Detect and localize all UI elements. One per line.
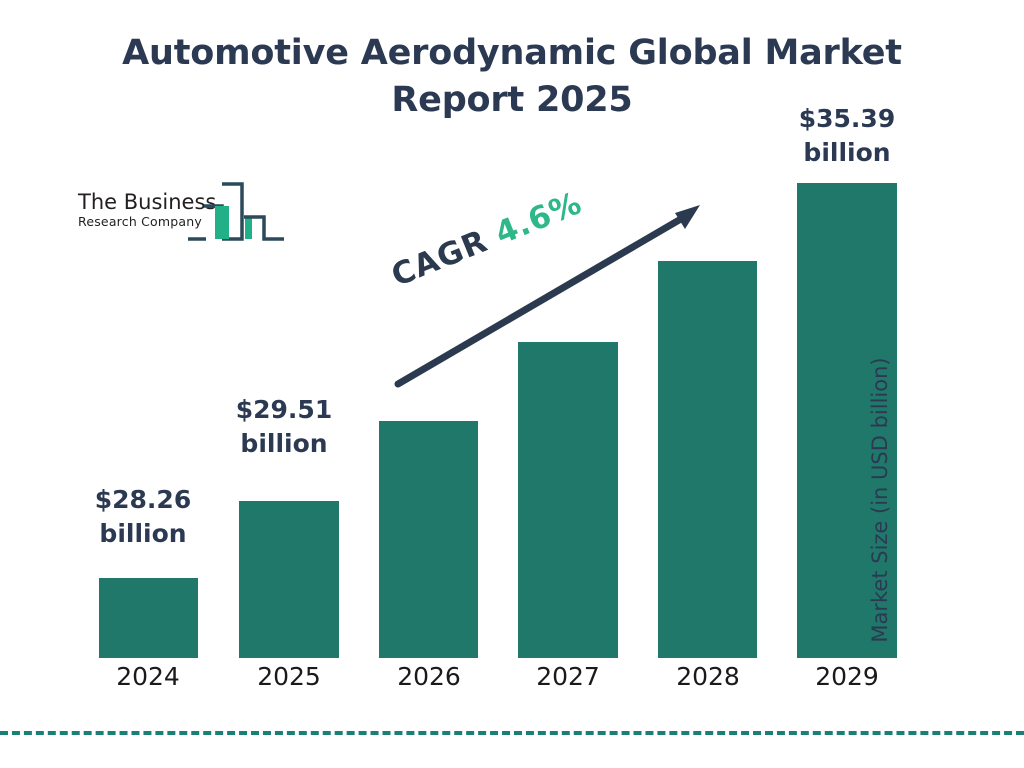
bar-2024 xyxy=(99,578,198,658)
value-label-2024: $28.26 billion xyxy=(78,483,208,551)
x-tick-2027: 2027 xyxy=(508,662,628,691)
x-tick-2028: 2028 xyxy=(648,662,768,691)
value-label-2025: $29.51 billion xyxy=(219,393,349,461)
cagr-label: CAGR xyxy=(387,223,493,294)
y-axis-title: Market Size (in USD billion) xyxy=(868,330,892,670)
value-label-2029-unit: billion xyxy=(782,136,912,170)
cagr-value: 4.6% xyxy=(490,185,587,252)
chart-page: Automotive Aerodynamic Global Market Rep… xyxy=(0,0,1024,768)
bar-2028 xyxy=(658,261,757,658)
value-label-2029: $35.39 billion xyxy=(782,102,912,170)
x-tick-2026: 2026 xyxy=(369,662,489,691)
bar-2027 xyxy=(518,342,618,658)
cagr-annotation: CAGR 4.6% xyxy=(387,185,588,294)
value-label-2024-amount: $28.26 xyxy=(78,483,208,517)
x-tick-2024: 2024 xyxy=(88,662,208,691)
value-label-2025-amount: $29.51 xyxy=(219,393,349,427)
value-label-2025-unit: billion xyxy=(219,427,349,461)
value-label-2029-amount: $35.39 xyxy=(782,102,912,136)
footer-divider xyxy=(0,731,1024,735)
value-label-2024-unit: billion xyxy=(78,517,208,551)
x-tick-2025: 2025 xyxy=(229,662,349,691)
bar-2026 xyxy=(379,421,478,658)
bar-2025 xyxy=(239,501,339,658)
